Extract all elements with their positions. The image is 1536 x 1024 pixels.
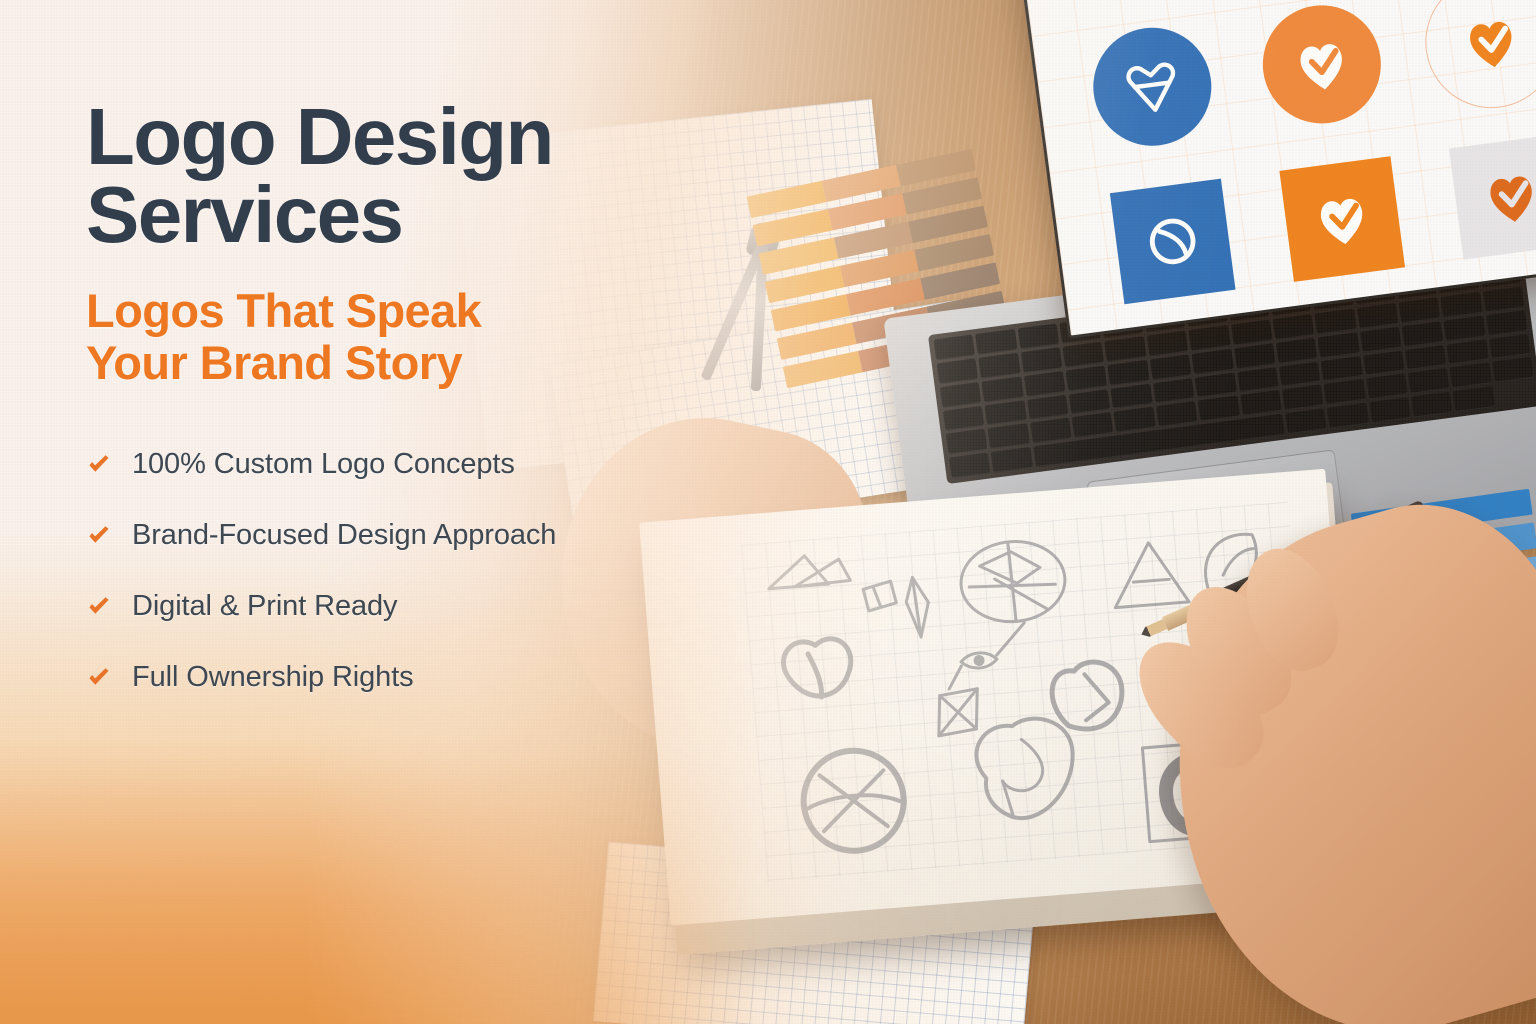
subheadline-line-1: Logos That Speak	[86, 284, 481, 337]
list-item: Digital & Print Ready	[86, 590, 726, 623]
subheadline: Logos That Speak Your Brand Story	[86, 285, 726, 390]
check-icon	[86, 452, 112, 478]
check-icon	[86, 665, 112, 691]
headline-line-1: Logo Design	[86, 92, 553, 181]
list-item-label: Digital & Print Ready	[132, 590, 397, 623]
list-item-label: 100% Custom Logo Concepts	[132, 448, 515, 481]
marketing-copy: Logo Design Services Logos That Speak Yo…	[86, 98, 726, 694]
page-title: Logo Design Services	[86, 98, 726, 255]
feature-list: 100% Custom Logo Concepts Brand-Focused …	[86, 448, 726, 694]
list-item-label: Full Ownership Rights	[132, 661, 414, 694]
check-icon	[86, 523, 112, 549]
logo-design-banner: Logo Design Services Logos That Speak Yo…	[0, 0, 1536, 1024]
list-item-label: Brand-Focused Design Approach	[132, 519, 556, 552]
list-item: 100% Custom Logo Concepts	[86, 448, 726, 481]
check-icon	[86, 594, 112, 620]
list-item: Full Ownership Rights	[86, 661, 726, 694]
headline-line-2: Services	[86, 170, 402, 259]
list-item: Brand-Focused Design Approach	[86, 519, 726, 552]
subheadline-line-2: Your Brand Story	[86, 336, 462, 389]
